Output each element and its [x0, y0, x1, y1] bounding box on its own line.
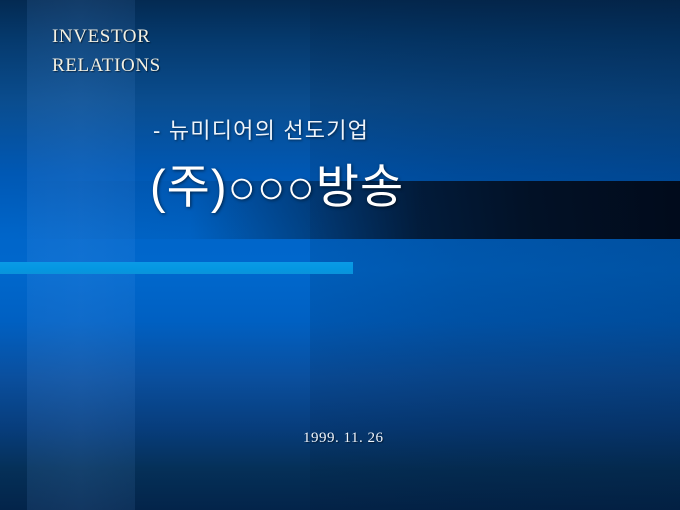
slide-kicker: INVESTOR RELATIONS	[52, 22, 472, 81]
slide-subtitle: - 뉴미디어의 선도기업	[153, 113, 369, 145]
slide-main-title: (주)○○○방송	[150, 160, 404, 214]
title-slide: INVESTOR RELATIONS - 뉴미디어의 선도기업 (주)○○○방송…	[0, 0, 680, 510]
slide-date: 1999. 11. 26	[303, 430, 383, 447]
accent-bar	[0, 262, 353, 274]
